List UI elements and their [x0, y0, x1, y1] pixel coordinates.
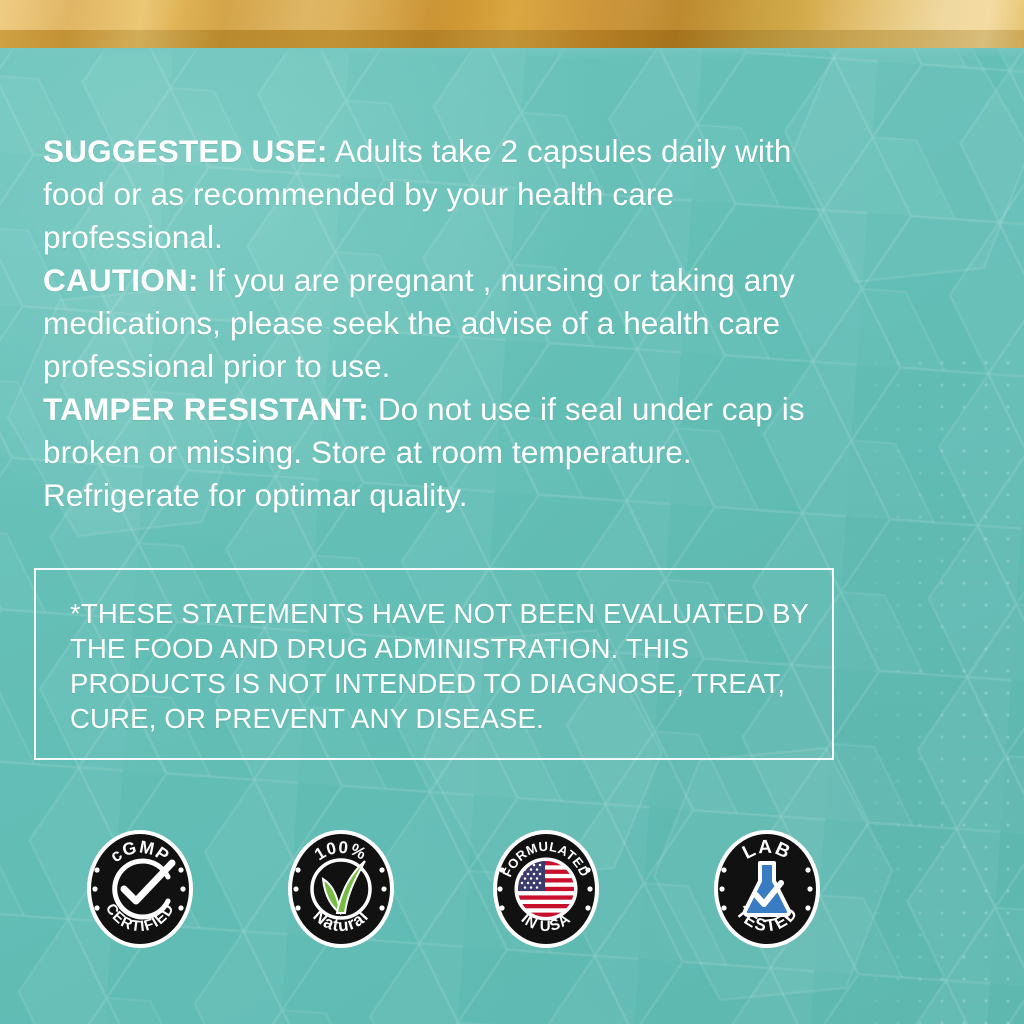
badge-100-percent-natural: 100% Natural [285, 827, 397, 951]
badge-lab-tested: LAB TESTED [711, 827, 823, 951]
suggested-use-heading: SUGGESTED USE: [43, 133, 328, 169]
badge-formulated-in-usa: FORMULATED IN USA [490, 827, 602, 951]
usa-flag-icon [516, 859, 576, 919]
certification-badges-row: cGMP CERTIFIED [0, 827, 1024, 957]
directions-text-block: SUGGESTED USE: Adults take 2 capsules da… [43, 130, 843, 517]
gold-band-sheen [0, 0, 1024, 30]
caution-heading: CAUTION: [43, 262, 199, 298]
badge-cgmp-certified: cGMP CERTIFIED [84, 827, 196, 951]
fda-disclaimer-text: *THESE STATEMENTS HAVE NOT BEEN EVALUATE… [70, 596, 810, 736]
gold-band-drop-shadow [0, 48, 1024, 58]
suggested-use-paragraph: SUGGESTED USE: Adults take 2 capsules da… [43, 130, 843, 259]
tamper-resistant-heading: TAMPER RESISTANT: [43, 391, 369, 427]
supplement-label-back-panel: SUGGESTED USE: Adults take 2 capsules da… [0, 0, 1024, 1024]
caution-paragraph: CAUTION: If you are pregnant , nursing o… [43, 259, 843, 388]
tamper-resistant-paragraph: TAMPER RESISTANT: Do not use if seal und… [43, 388, 843, 517]
gold-top-band [0, 0, 1024, 48]
fda-disclaimer-box: *THESE STATEMENTS HAVE NOT BEEN EVALUATE… [34, 568, 834, 760]
